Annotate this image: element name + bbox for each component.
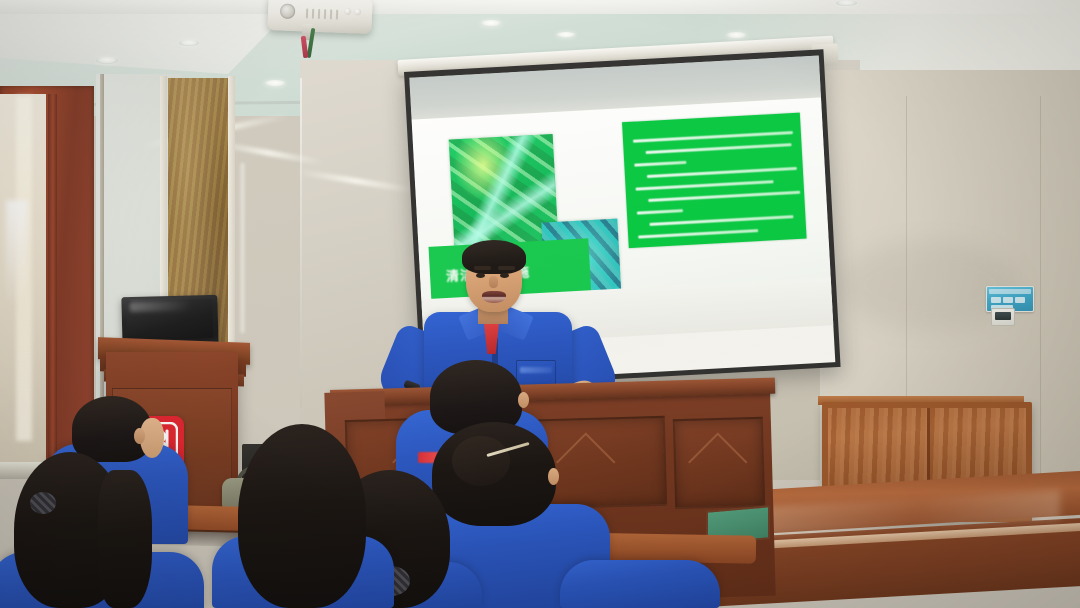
projector-vent <box>312 9 314 19</box>
monitor-glare <box>129 300 189 312</box>
downlight <box>179 40 199 46</box>
hair-tie <box>30 492 56 514</box>
downlight <box>836 0 857 6</box>
wall-panel-line <box>1040 96 1041 476</box>
slide-text-line <box>633 131 793 143</box>
projector-knob <box>344 8 351 15</box>
downlight <box>556 32 576 38</box>
presenter-brow-right <box>498 266 515 270</box>
projector-vent <box>324 9 326 19</box>
projector-knob <box>354 8 361 15</box>
downlight <box>96 57 118 64</box>
presenter-mouth <box>482 291 506 303</box>
presenter-brow-left <box>474 266 491 270</box>
thermostat-panel[interactable] <box>991 308 1015 326</box>
projector-vent <box>318 9 320 19</box>
attendee-hair <box>238 424 366 608</box>
window-glare <box>6 200 28 350</box>
presenter-nose <box>489 276 498 288</box>
attendee-hair-side <box>98 470 152 608</box>
attendee-ear <box>134 428 145 444</box>
projector-lens-icon <box>280 3 296 19</box>
projector-vent <box>336 10 338 20</box>
attendee-ear <box>518 392 529 408</box>
slide-text-line <box>637 209 683 214</box>
ceiling-projector <box>267 0 372 34</box>
downlight <box>264 80 286 87</box>
wall-seam <box>300 78 302 408</box>
presenter-pocket-logo <box>520 367 552 373</box>
slide-text-line <box>634 161 686 167</box>
slide-text-line <box>646 143 792 154</box>
presenter-eye-left <box>476 273 485 278</box>
wall-light-streak <box>240 163 245 333</box>
slide-text-line <box>636 180 774 190</box>
sign-cell <box>1015 297 1025 303</box>
attendee-hair-bun <box>452 436 510 486</box>
window-mullion <box>48 94 57 466</box>
slide-content-panel <box>622 113 807 248</box>
slide-text-line <box>638 229 758 238</box>
slide-text-line <box>648 191 800 202</box>
meeting-room-photo: 清洁生产措施 <box>0 0 1080 608</box>
wall-panel-line <box>906 96 907 396</box>
slide-text-line <box>650 215 794 226</box>
slide-text-line <box>647 167 797 178</box>
presenter-chest-pocket <box>516 360 556 386</box>
presenter-hair <box>462 240 526 274</box>
downlight <box>480 20 502 27</box>
downlight <box>726 32 747 39</box>
attendee-ear <box>548 468 559 485</box>
attendee-uniform-back <box>560 560 720 608</box>
projector-vent <box>306 8 308 18</box>
sign-cell <box>1003 297 1013 303</box>
thermostat-display <box>995 312 1011 320</box>
sign-cell <box>991 297 1001 303</box>
sign-header-strip <box>989 289 1031 294</box>
projector-vent <box>330 9 332 19</box>
presenter-eye-right <box>500 273 509 278</box>
